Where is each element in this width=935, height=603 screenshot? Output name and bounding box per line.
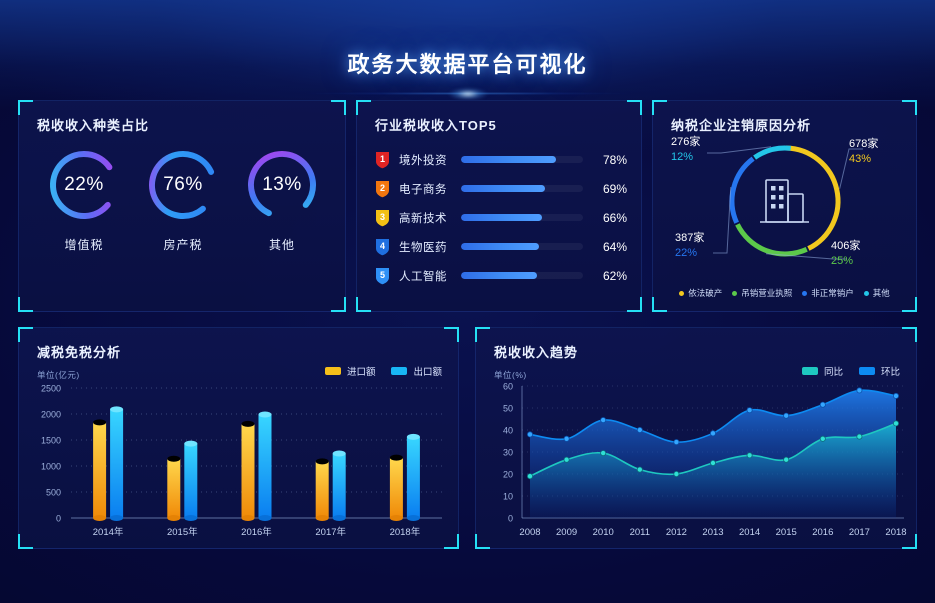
svg-text:2012: 2012: [666, 527, 687, 538]
panel-title: 行业税收收入TOP5: [375, 115, 497, 134]
corner-bracket-tl: [18, 327, 33, 342]
svg-text:2017: 2017: [849, 527, 870, 538]
rank-number: 4: [375, 238, 390, 256]
svg-text:2018年: 2018年: [390, 526, 421, 538]
industry-name: 人工智能: [399, 268, 457, 284]
legend-label: 吊销营业执照: [741, 287, 792, 299]
progress-fill: [461, 214, 542, 221]
industry-value: 62%: [593, 269, 627, 283]
corner-bracket-tl: [356, 100, 371, 115]
legend-dot-icon: [864, 291, 869, 296]
legend-dot-icon: [679, 291, 684, 296]
svg-text:2017年: 2017年: [315, 526, 346, 538]
svg-text:60: 60: [503, 382, 513, 392]
industry-name: 电子商务: [399, 181, 457, 197]
rank-number: 2: [375, 180, 390, 198]
dashboard-root: 政务大数据平台可视化 税收收入种类占比 22%增值税76%房产税13%其他 行业…: [0, 0, 935, 603]
legend-dot-icon: [732, 291, 737, 296]
legend-label: 其他: [873, 287, 890, 299]
gauge-label: 其他: [236, 236, 328, 253]
legend-item[interactable]: 吊销营业执照: [732, 287, 792, 299]
gauge-label: 增值税: [38, 236, 130, 253]
ring-chart-legend: 依法破产吊销营业执照非正常销户其他: [653, 287, 916, 299]
svg-text:2013: 2013: [702, 527, 723, 538]
progress-track: [461, 214, 583, 221]
gauge-value: 22%: [46, 147, 122, 223]
progress-track: [461, 272, 583, 279]
legend-label: 依法破产: [688, 287, 722, 299]
gauge-group: 22%增值税76%房产税13%其他: [19, 147, 345, 307]
panel-industry-top5: 行业税收收入TOP5 1境外投资78%2电子商务69%3高新技术66%4生物医药…: [356, 100, 642, 312]
gauge-ring: 13%: [244, 147, 320, 223]
corner-bracket-br: [627, 297, 642, 312]
list-item[interactable]: 3高新技术66%: [375, 203, 627, 232]
ring-label: 406家25%: [831, 239, 860, 269]
list-item[interactable]: 4生物医药64%: [375, 232, 627, 261]
panel-title: 税收收入种类占比: [37, 115, 149, 134]
list-item[interactable]: 5人工智能62%: [375, 261, 627, 290]
legend-swatch-icon: [859, 367, 875, 375]
ring-label-count: 678家: [849, 137, 878, 152]
progress-fill: [461, 272, 537, 279]
svg-text:2016: 2016: [812, 527, 833, 538]
ring-label-count: 276家: [671, 135, 700, 150]
legend-item[interactable]: 依法破产: [679, 287, 722, 299]
industry-name: 境外投资: [399, 152, 457, 168]
ring-label: 387家22%: [675, 231, 704, 261]
gauge-2: 76%房产税: [137, 147, 229, 253]
svg-text:500: 500: [46, 488, 61, 498]
dashboard-header: 政务大数据平台可视化: [0, 0, 935, 100]
corner-bracket-br: [902, 297, 917, 312]
ring-label-percent: 25%: [831, 254, 860, 269]
ring-chart: 678家43%406家25%387家22%276家12%: [653, 127, 916, 279]
rank-badge-icon: 5: [375, 267, 390, 285]
svg-text:2010: 2010: [593, 527, 614, 538]
rank-number: 3: [375, 209, 390, 227]
corner-bracket-tr: [902, 327, 917, 342]
svg-text:2015年: 2015年: [167, 526, 198, 538]
svg-text:2018: 2018: [885, 527, 906, 538]
svg-text:2009: 2009: [556, 527, 577, 538]
ring-label-percent: 43%: [849, 152, 878, 167]
svg-text:0: 0: [56, 514, 61, 524]
progress-track: [461, 243, 583, 250]
svg-text:50: 50: [503, 404, 513, 414]
svg-text:1500: 1500: [41, 436, 61, 446]
progress-fill: [461, 156, 556, 163]
svg-text:40: 40: [503, 426, 513, 436]
legend-item[interactable]: 非正常销户: [802, 287, 854, 299]
title-glow-streak: [258, 92, 678, 95]
corner-bracket-tr: [331, 100, 346, 115]
list-item[interactable]: 1境外投资78%: [375, 145, 627, 174]
svg-text:2000: 2000: [41, 410, 61, 420]
ring-label-count: 387家: [675, 231, 704, 246]
rank-badge-icon: 3: [375, 209, 390, 227]
ring-label: 678家43%: [849, 137, 878, 167]
legend-swatch-icon: [325, 367, 341, 375]
svg-text:30: 30: [503, 448, 513, 458]
corner-bracket-bl: [356, 297, 371, 312]
gauge-3: 13%其他: [236, 147, 328, 253]
rank-badge-icon: 2: [375, 180, 390, 198]
svg-text:2011: 2011: [630, 527, 650, 538]
panel-tax-trend: 税收收入趋势 单位(%) 同比环比 0102030405060200820092…: [475, 327, 917, 549]
svg-text:10: 10: [503, 492, 513, 502]
legend-label: 非正常销户: [811, 287, 854, 299]
svg-text:0: 0: [508, 514, 513, 524]
panel-tax-reduction: 减税免税分析 单位(亿元) 进口额出口额 0500100015002000250…: [18, 327, 459, 549]
legend-swatch-icon: [391, 367, 407, 375]
industry-value: 66%: [593, 211, 627, 225]
ring-label-percent: 22%: [675, 246, 704, 261]
svg-text:2014年: 2014年: [93, 526, 124, 538]
ring-label-percent: 12%: [671, 150, 700, 165]
corner-bracket-tl: [18, 100, 33, 115]
gauge-value: 76%: [145, 147, 221, 223]
industry-value: 64%: [593, 240, 627, 254]
svg-text:2500: 2500: [41, 384, 61, 394]
gauge-ring: 22%: [46, 147, 122, 223]
svg-text:2014: 2014: [739, 527, 760, 538]
legend-swatch-icon: [802, 367, 818, 375]
corner-bracket-tr: [627, 100, 642, 115]
panel-tax-share: 税收收入种类占比 22%增值税76%房产税13%其他: [18, 100, 346, 312]
page-title: 政务大数据平台可视化: [0, 47, 935, 79]
corner-bracket-tr: [444, 327, 459, 342]
industry-value: 69%: [593, 182, 627, 196]
rank-number: 5: [375, 267, 390, 285]
progress-track: [461, 156, 583, 163]
corner-bracket-bl: [652, 297, 667, 312]
panel-cancellation-reasons: 纳税企业注销原因分析 678家43%406家25%387家22%276家12% …: [652, 100, 917, 312]
ranking-list: 1境外投资78%2电子商务69%3高新技术66%4生物医药64%5人工智能62%: [375, 145, 627, 290]
svg-text:2016年: 2016年: [241, 526, 272, 538]
rank-badge-icon: 1: [375, 151, 390, 169]
panel-title: 税收收入趋势: [494, 342, 578, 361]
gauge-label: 房产税: [137, 236, 229, 253]
corner-bracket-tl: [652, 100, 667, 115]
progress-track: [461, 185, 583, 192]
gauge-value: 13%: [244, 147, 320, 223]
svg-text:20: 20: [503, 470, 513, 480]
corner-bracket-tl: [475, 327, 490, 342]
ring-label-count: 406家: [831, 239, 860, 254]
svg-text:2008: 2008: [519, 527, 540, 538]
area-chart: 0102030405060200820092010201120122013201…: [476, 376, 918, 550]
legend-item[interactable]: 其他: [864, 287, 890, 299]
industry-name: 生物医药: [399, 239, 457, 255]
progress-fill: [461, 243, 539, 250]
industry-name: 高新技术: [399, 210, 457, 226]
list-item[interactable]: 2电子商务69%: [375, 174, 627, 203]
rank-number: 1: [375, 151, 390, 169]
ring-label: 276家12%: [671, 135, 700, 165]
panel-title: 减税免税分析: [37, 342, 121, 361]
bar-chart: 050010001500200025002014年2015年2016年2017年…: [19, 376, 460, 550]
legend-dot-icon: [802, 291, 807, 296]
svg-text:2015: 2015: [776, 527, 797, 538]
gauge-ring: 76%: [145, 147, 221, 223]
gauge-1: 22%增值税: [38, 147, 130, 253]
rank-badge-icon: 4: [375, 238, 390, 256]
corner-bracket-tr: [902, 100, 917, 115]
industry-value: 78%: [593, 153, 627, 167]
progress-fill: [461, 185, 545, 192]
svg-text:1000: 1000: [41, 462, 61, 472]
